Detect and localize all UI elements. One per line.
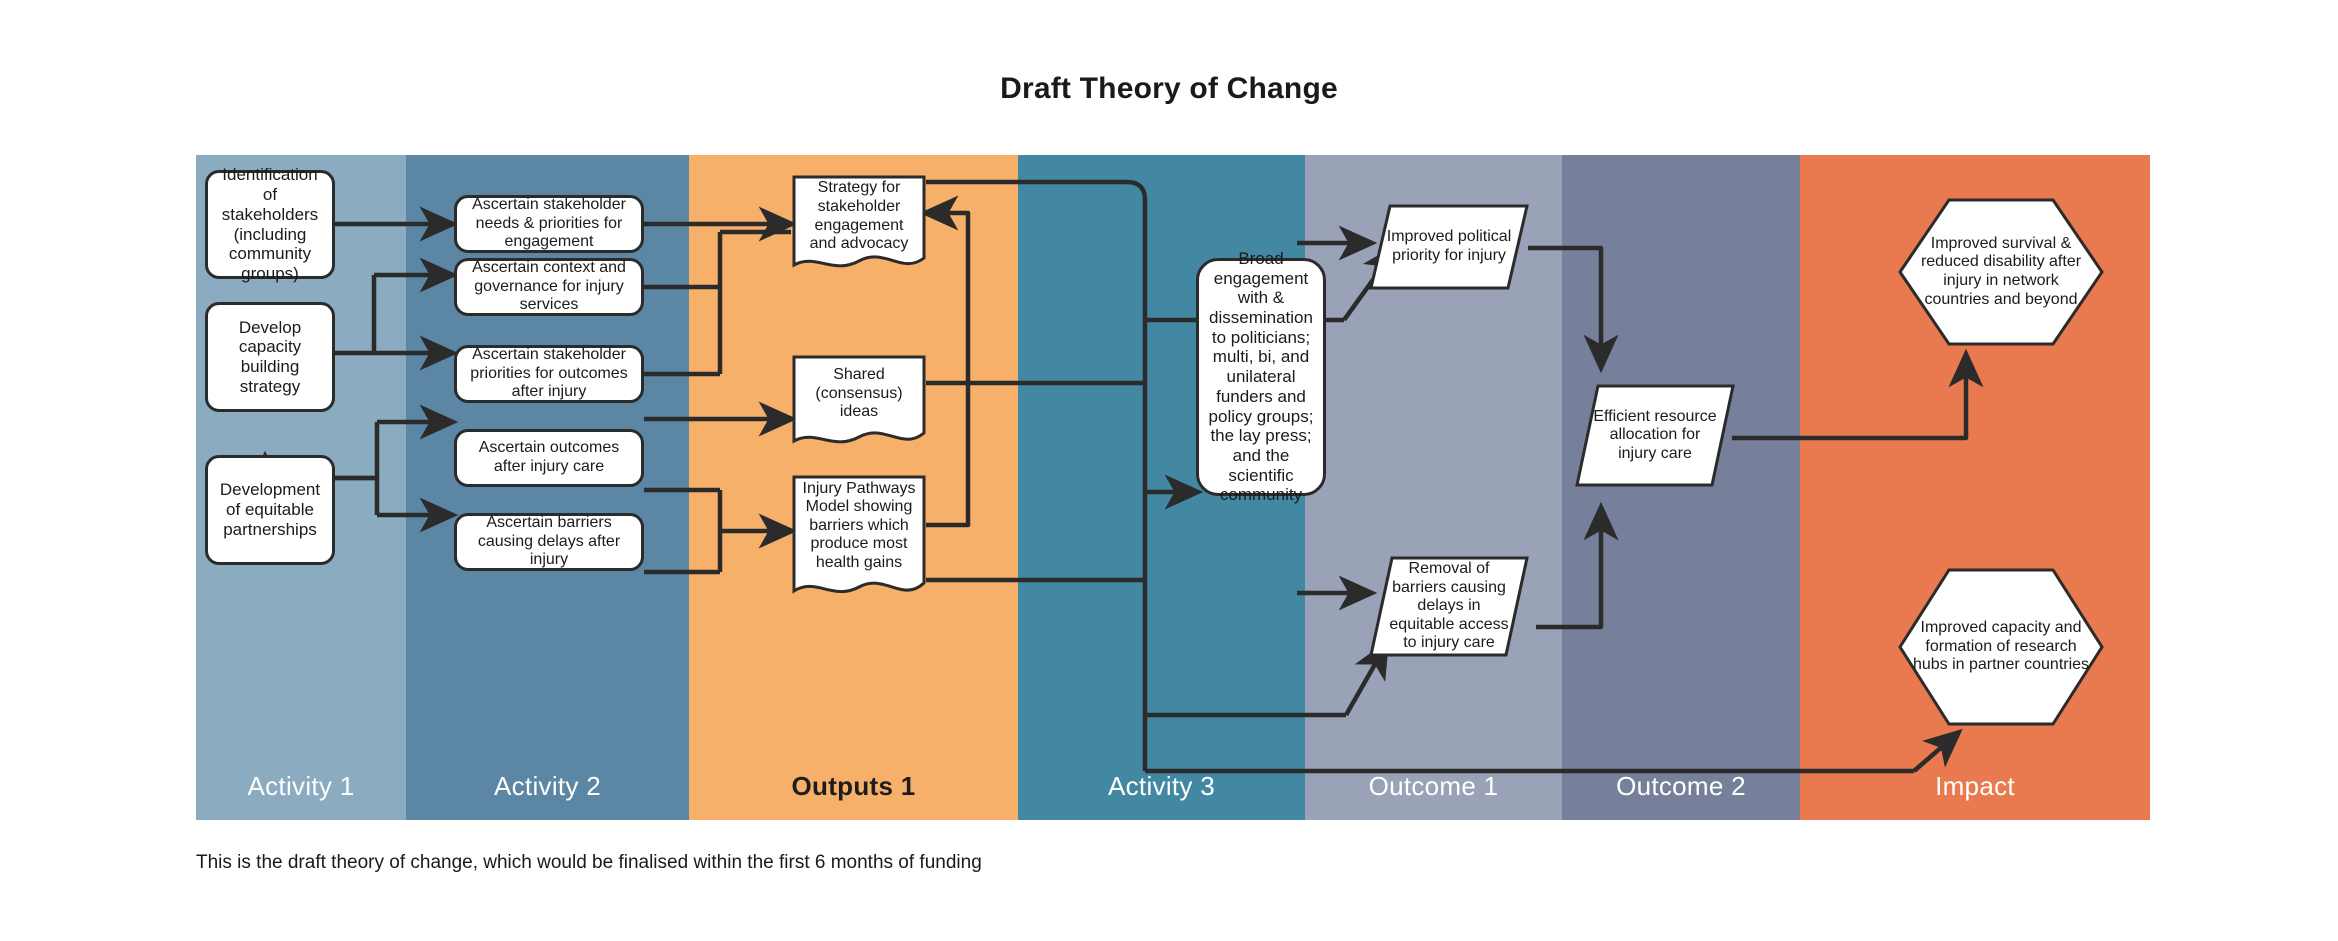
node-ascertain-stakeholder-priorities[interactable]: Ascertain stakeholder priorities for out… xyxy=(454,345,644,403)
node-broad-engagement-dissemination[interactable]: Broad engagement with & dissemination to… xyxy=(1196,258,1326,496)
node-ascertain-outcomes-after-injury[interactable]: Ascertain outcomes after injury care xyxy=(454,429,644,487)
node-development-of-equitable-partnerships[interactable]: Development of equitable partnerships xyxy=(205,455,335,565)
wire-outputs-trunk xyxy=(926,182,1145,771)
node-ascertain-stakeholder-needs[interactable]: Ascertain stakeholder needs & priorities… xyxy=(454,195,644,253)
node-identification-of-stakeholders[interactable]: Identification of stakeholders (includin… xyxy=(205,170,335,279)
node-ascertain-context-governance[interactable]: Ascertain context and governance for inj… xyxy=(454,258,644,316)
wire-outcome1-upper-to-outcome2 xyxy=(1528,248,1601,367)
theory-of-change-diagram: Draft Theory of Change Activity 1 Activi… xyxy=(0,0,2338,941)
node-strategy-stakeholder-engagement[interactable]: Strategy for stakeholder engagement and … xyxy=(792,175,926,280)
swimlane-board: Activity 1 Activity 2 Outputs 1 Activity… xyxy=(196,155,2150,820)
node-improved-survival-reduced-disability[interactable]: Improved survival & reduced disability a… xyxy=(1896,197,2106,347)
wire-outcome2-to-impact-1 xyxy=(1732,355,1966,438)
page-title: Draft Theory of Change xyxy=(0,72,2338,106)
wire-feedback-to-strategy xyxy=(926,213,968,525)
node-removal-of-barriers[interactable]: Removal of barriers causing delays in eq… xyxy=(1368,555,1530,658)
connector-layer xyxy=(196,155,2150,820)
node-efficient-resource-allocation[interactable]: Efficient resource allocation for injury… xyxy=(1574,383,1736,488)
node-injury-pathways-model[interactable]: Injury Pathways Model showing barriers w… xyxy=(792,475,926,609)
wire-outcome1-lower-to-outcome2 xyxy=(1536,508,1601,627)
wire-bottom-bus-to-impact-2 xyxy=(1914,733,1958,771)
node-develop-capacity-building-strategy[interactable]: Develop capacity building strategy xyxy=(205,302,335,412)
wire-a1-3-bus-down xyxy=(335,478,377,515)
node-improved-capacity-research-hubs[interactable]: Improved capacity and formation of resea… xyxy=(1896,567,2106,727)
node-shared-consensus-ideas[interactable]: Shared (consensus) ideas xyxy=(792,355,926,455)
node-improved-political-priority[interactable]: Improved political priority for injury xyxy=(1368,203,1530,291)
figure-caption: This is the draft theory of change, whic… xyxy=(196,852,982,874)
node-ascertain-barriers-delays[interactable]: Ascertain barriers causing delays after … xyxy=(454,513,644,571)
